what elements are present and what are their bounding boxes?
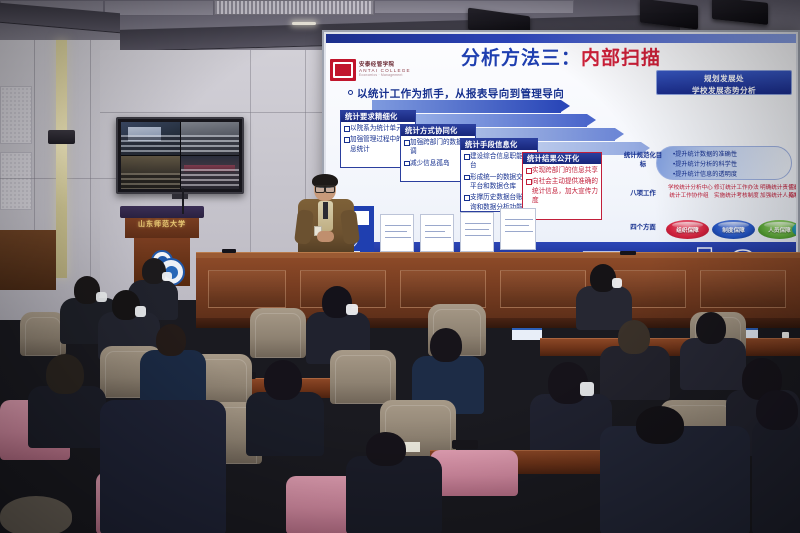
work-column: 完善统计指标体系 [788, 184, 796, 201]
attendee [100, 400, 226, 533]
tv-stand [172, 194, 188, 199]
attendee-head [618, 320, 650, 354]
thumb-slide [380, 214, 414, 252]
attendee [140, 350, 206, 406]
attendee-head [696, 312, 726, 344]
thumb-slide [420, 214, 454, 252]
desk-row [540, 338, 800, 356]
row-label: 统计规范化目标 [622, 152, 664, 169]
attendee-head [756, 390, 798, 430]
thumb-slide [460, 212, 494, 252]
attendee [246, 392, 324, 456]
attendee-head [430, 328, 462, 362]
ceiling-speaker [712, 0, 768, 25]
capsule-item: •提升统计数据的准确性 [673, 150, 787, 160]
ceiling-vent [214, 0, 374, 15]
remote-venue-video-wall [116, 117, 244, 194]
stair-box-header: 统计结果公开化 [523, 153, 601, 164]
attendee [346, 456, 442, 533]
wall-light-fixture [48, 130, 75, 144]
slide-title-blue: 分析方法三： [461, 48, 581, 69]
auditorium-seat [330, 350, 396, 404]
attendee-head [366, 432, 406, 466]
acoustic-panel [0, 86, 32, 144]
stair-box-body: 实现跨部门的信息共享 向社会主动提供准确的统计信息，加大宣传力度 [523, 164, 601, 205]
smartphone [452, 440, 478, 449]
attendee-head [46, 354, 84, 394]
guarantee-oval: 制度保障 [712, 220, 755, 239]
auditorium-seat [430, 450, 518, 496]
glasses-icon [315, 185, 335, 190]
slide-title: 分析方法三：内部扫描 [326, 43, 796, 70]
work-column: 学校统计分析中心统计工作协作组 [668, 184, 710, 201]
stair-box-header: 统计方式协同化 [401, 125, 475, 136]
face-mask [346, 304, 358, 315]
attendee-head [156, 324, 186, 356]
face-mask [612, 278, 622, 288]
video-quadrant [121, 156, 180, 189]
attendee [600, 346, 670, 400]
rp-title-line1: 规划发展处 [657, 73, 791, 85]
work-column: 修订统计工作办法实施统计考核制度 [714, 184, 756, 201]
podium-inscription: 山东师范大学 [125, 219, 199, 229]
attendee-head [636, 406, 684, 444]
ceiling-downlight [292, 22, 316, 25]
right-panel-title: 规划发展处 学校发展态势分析 [656, 70, 792, 95]
acoustic-panel [0, 152, 32, 210]
face-mask [162, 272, 172, 281]
stair-item: 向社会主动提供准确的统计信息，加大宣传力度 [526, 177, 599, 205]
guarantee-oval: 组织保障 [666, 220, 709, 239]
podium-microphone [182, 188, 184, 214]
slide-top-bar [326, 34, 796, 43]
slide-title-red: 内部扫描 [581, 48, 661, 69]
name-placard [512, 328, 542, 340]
slide-lead-text: 以统计工作为抓手，从报表导向到管理导向 [357, 88, 564, 100]
guarantee-oval: 人员保障 [758, 220, 796, 239]
face-mask [580, 382, 594, 396]
row-label: 四个方面 [622, 224, 664, 233]
right-panel-capsule: •提升统计数据的准确性 •提升统计分析的科学性 •提升统计信息的透明度 [656, 146, 792, 180]
attendee [680, 338, 746, 390]
attendee [600, 426, 750, 533]
stair-box-header: 统计要求精细化 [341, 111, 415, 122]
auditorium-seat [250, 308, 306, 358]
stair-item: 实现跨部门的信息共享 [526, 166, 599, 175]
capsule-item: •提升统计信息的透明度 [673, 170, 787, 180]
bullet-circle-icon [348, 90, 353, 95]
attendee-head [0, 496, 72, 533]
face-mask [96, 292, 107, 302]
rp-title-line2: 学校发展态势分析 [657, 85, 791, 97]
wall-light-strip [56, 40, 67, 278]
audience [0, 250, 800, 533]
face-mask [135, 306, 146, 317]
auditorium-scene: 安泰经管学院 ANTAI COLLEGE Economics · Managem… [0, 0, 800, 533]
row-label: 八项工作 [622, 190, 664, 199]
presenter-hands [317, 231, 334, 242]
attendee-head [264, 360, 302, 400]
attendee [752, 420, 800, 533]
slide-lead: 以统计工作为抓手，从报表导向到管理导向 [348, 86, 564, 101]
video-quadrant [181, 122, 240, 155]
thumb-slide [500, 208, 536, 250]
video-quadrant [121, 122, 180, 155]
logo-sub: Economics · Management [359, 74, 411, 77]
capsule-item: •提升统计分析的科学性 [673, 160, 787, 170]
video-quadrant [181, 156, 240, 189]
stair-box-header: 统计手段信息化 [461, 139, 537, 150]
attendee [28, 386, 106, 448]
